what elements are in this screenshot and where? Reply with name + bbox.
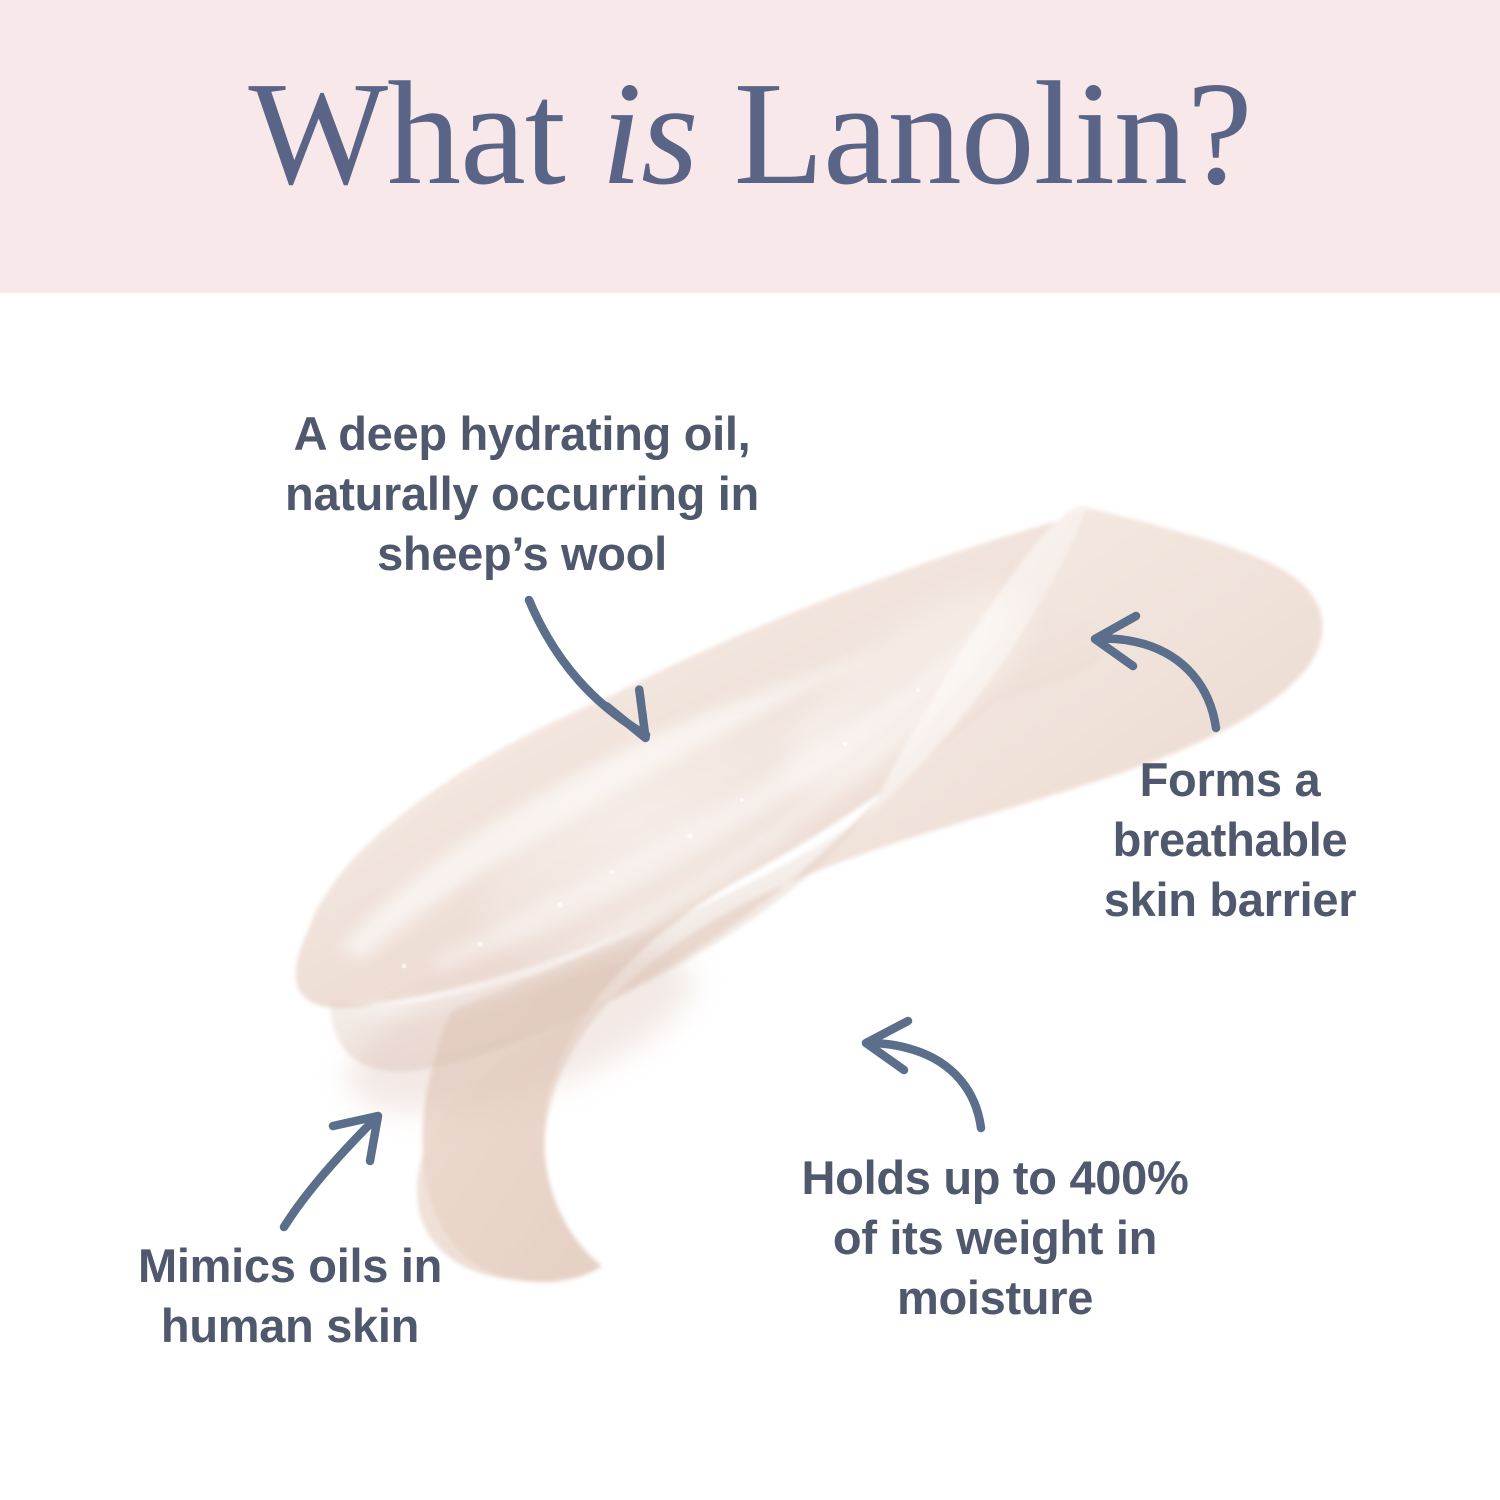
curved-arrow-down-right-icon: [529, 600, 652, 738]
curved-arrow-up-right-icon: [284, 1116, 378, 1227]
curved-arrow-up-left-icon-barrier: [1095, 616, 1216, 728]
curved-arrow-up-left-icon-moisture: [866, 1021, 981, 1128]
arrow-head: [603, 685, 652, 738]
callout-moisture-capacity: Holds up to 400% of its weight in moistu…: [735, 1148, 1255, 1328]
arrow-shaft: [284, 1120, 374, 1227]
arrow-shaft: [529, 600, 646, 735]
callout-hydrating-oil: A deep hydrating oil, naturally occurrin…: [232, 404, 812, 584]
infographic-canvas: What is Lanolin?: [0, 0, 1500, 1500]
callout-breathable-barrier: Forms a breathable skin barrier: [1065, 750, 1395, 930]
callout-mimics-skin-oils: Mimics oils in human skin: [80, 1236, 500, 1356]
